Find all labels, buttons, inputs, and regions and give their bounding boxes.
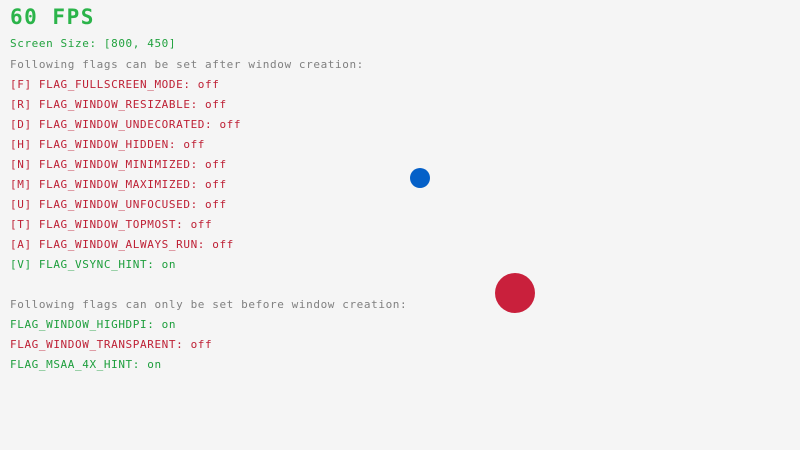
flag-row-flag-window-unfocused[interactable]: [U] FLAG_WINDOW_UNFOCUSED: off xyxy=(10,199,227,211)
flag-row-flag-window-minimized[interactable]: [N] FLAG_WINDOW_MINIMIZED: off xyxy=(10,159,227,171)
blue-circle-shape xyxy=(410,168,430,188)
fps-counter: 60 FPS xyxy=(10,6,95,28)
flag-row-flag-window-always-run[interactable]: [A] FLAG_WINDOW_ALWAYS_RUN: off xyxy=(10,239,234,251)
flag-row-flag-window-resizable[interactable]: [R] FLAG_WINDOW_RESIZABLE: off xyxy=(10,99,227,111)
flag-row-flag-window-highdpi[interactable]: FLAG_WINDOW_HIGHDPI: on xyxy=(10,319,176,331)
screen-size-label: Screen Size: [800, 450] xyxy=(10,38,176,50)
raylib-window-canvas[interactable]: 60 FPS Screen Size: [800, 450] Following… xyxy=(0,0,800,450)
flag-row-flag-fullscreen-mode[interactable]: [F] FLAG_FULLSCREEN_MODE: off xyxy=(10,79,219,91)
flag-row-flag-window-hidden[interactable]: [H] FLAG_WINDOW_HIDDEN: off xyxy=(10,139,205,151)
flag-row-flag-msaa-4x-hint[interactable]: FLAG_MSAA_4X_HINT: on xyxy=(10,359,162,371)
flag-row-flag-vsync-hint[interactable]: [V] FLAG_VSYNC_HINT: on xyxy=(10,259,176,271)
flag-row-flag-window-undecorated[interactable]: [D] FLAG_WINDOW_UNDECORATED: off xyxy=(10,119,241,131)
flag-row-flag-window-maximized[interactable]: [M] FLAG_WINDOW_MAXIMIZED: off xyxy=(10,179,227,191)
flag-row-flag-window-transparent[interactable]: FLAG_WINDOW_TRANSPARENT: off xyxy=(10,339,212,351)
flag-row-flag-window-topmost[interactable]: [T] FLAG_WINDOW_TOPMOST: off xyxy=(10,219,212,231)
runtime-flags-header: Following flags can be set after window … xyxy=(10,59,364,71)
creation-flags-header: Following flags can only be set before w… xyxy=(10,299,407,311)
red-circle-shape xyxy=(495,273,535,313)
